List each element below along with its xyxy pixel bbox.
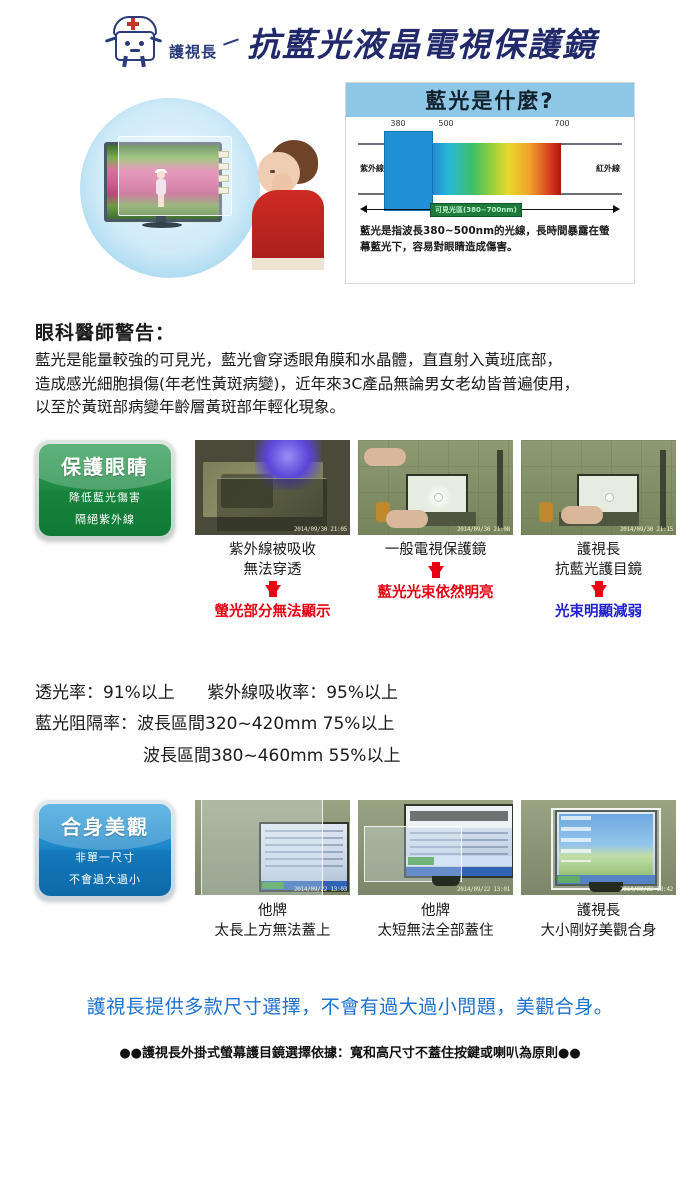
screen-protector-overlay <box>118 136 232 216</box>
caption-line-1: 護視長 <box>521 901 676 921</box>
result-text: 螢光部分無法顯示 <box>195 600 350 621</box>
caption-line-2: 無法穿透 <box>195 561 350 581</box>
wavelength-axis: 380 500 700 <box>346 119 634 131</box>
brand-name: 護視長 <box>169 41 217 68</box>
warning-line-1: 藍光是能量較強的可見光，藍光會穿透眼角膜和水晶體，直直射入黃班底部， <box>35 349 675 373</box>
photo-timestamp: 2014/09/30 21:08 <box>457 526 510 533</box>
warning-line-2: 造成感光細胞損傷(年老性黃斑病變)，近年來3C產品無論男女老幼皆普遍使用， <box>35 373 675 397</box>
footer-note: ●●護視長外掛式螢幕護目鏡選擇依據：寬和高尺寸不蓋住按鍵或喇叭為原則●● <box>0 1042 700 1061</box>
demo-item: 2014/09/30 21:05 紫外線被吸收 無法穿透 螢光部分無法顯示 <box>195 440 350 621</box>
badge-sub-1: 非單一尺寸 <box>75 849 135 865</box>
huseeking-perfect-fit-photo: 2014/09/22 13:42 <box>521 800 676 895</box>
down-arrow-icon <box>428 566 444 578</box>
demo-item: 2014/09/30 21:15 護視長 抗藍光護目鏡 光束明顯減弱 <box>521 440 676 621</box>
result-text: 藍光光束依然明亮 <box>358 581 513 602</box>
photo-timestamp: 2014/09/30 21:05 <box>294 526 347 533</box>
warning-line-3: 以至於黃斑部病變年齡層黃斑部年輕化現象。 <box>35 396 675 420</box>
eye-protection-badge: 保護眼睛 降低藍光傷害 隔絕紫外線 <box>35 440 175 540</box>
caption-line-1: 紫外線被吸收 <box>195 541 350 561</box>
caption-line-1: 一般電視保護鏡 <box>358 541 513 561</box>
child-watching-tv-photo <box>62 90 332 285</box>
caption-line-1: 護視長 <box>521 541 676 561</box>
chart-caption: 藍光是指波長380~500nm的光線，長時間暴露在螢幕藍光下，容易對眼睛造成傷害… <box>346 217 634 256</box>
badge-title: 保護眼睛 <box>61 451 149 480</box>
chart-title: 藍光是什麼? <box>346 83 634 117</box>
photo-timestamp: 2014/09/22 13:42 <box>620 886 673 893</box>
caption-line-2: 太長上方無法蓋上 <box>195 921 350 941</box>
ir-region-label: 紅外線 <box>596 163 620 174</box>
spectrum-plot: 380 500 700 紫外線 紅外線 可見光區(380~700nm) <box>346 117 634 217</box>
uv-region-label: 紫外線 <box>360 163 384 174</box>
hero-row: 藍光是什麼? 380 500 700 紫外線 紅外線 可見光區(380~700n… <box>0 82 700 297</box>
protector-overlay <box>364 826 462 882</box>
spec-blue-block-1: 藍光阻隔率：波長區間320~420mm 75%以上 <box>35 709 675 740</box>
child-figure <box>252 140 324 270</box>
fit-demo-photos: 2014/09/22 13:03 他牌 太長上方無法蓋上 <box>195 800 675 942</box>
generic-protector-beam-photo: 2014/09/30 21:08 <box>358 440 513 535</box>
specifications-block: 透光率：91%以上 紫外線吸收率：95%以上 藍光阻隔率：波長區間320~420… <box>35 678 675 772</box>
down-arrow-icon <box>591 585 607 597</box>
down-arrow-icon <box>265 585 281 597</box>
demo-item: 2014/09/22 13:01 他牌 太短無法全部蓋住 <box>358 800 513 942</box>
caption-line-2: 抗藍光護目鏡 <box>521 561 676 581</box>
result-text: 光束明顯減弱 <box>521 600 676 621</box>
photo-timestamp: 2014/09/22 13:01 <box>457 886 510 893</box>
spec-transmittance: 透光率：91%以上 <box>35 683 175 703</box>
page-header: 護視長 抗藍光液晶電視保護鏡 <box>0 16 700 68</box>
doctor-warning-block: 眼科醫師警告： 藍光是能量較強的可見光，藍光會穿透眼角膜和水晶體，直直射入黃班底… <box>35 318 675 420</box>
badge-sub-2: 不會過大過小 <box>69 871 141 887</box>
badge-title: 合身美觀 <box>61 811 149 840</box>
arrow-right-icon <box>613 205 620 213</box>
footer-tagline: 護視長提供多款尺寸選擇，不會有過大過小問題，美觀合身。 <box>0 992 700 1019</box>
caption-line-2: 大小剛好美觀合身 <box>521 921 676 941</box>
caption-line-1: 他牌 <box>195 901 350 921</box>
spec-blue-block-2: 波長區間380~460mm 55%以上 <box>35 741 675 772</box>
spec-uv-absorption: 紫外線吸收率：95%以上 <box>207 683 398 703</box>
demo-item: 2014/09/22 13:42 護視長 大小剛好美觀合身 <box>521 800 676 942</box>
blue-light-spectrum-chart: 藍光是什麼? 380 500 700 紫外線 紅外線 可見光區(380~700n… <box>345 82 635 284</box>
blue-light-band <box>384 131 433 211</box>
badge-sub-1: 降低藍光傷害 <box>69 489 141 505</box>
tick-380: 380 <box>390 119 405 128</box>
demo-item: 2014/09/22 13:03 他牌 太長上方無法蓋上 <box>195 800 350 942</box>
warning-title: 眼科醫師警告： <box>35 318 675 345</box>
nurse-mascot-icon <box>103 16 167 68</box>
demo-item: 2014/09/30 21:08 一般電視保護鏡 藍光光束依然明亮 <box>358 440 513 621</box>
eye-demo-photos: 2014/09/30 21:05 紫外線被吸收 無法穿透 螢光部分無法顯示 <box>195 440 675 621</box>
arrow-left-icon <box>360 205 367 213</box>
caption-line-2: 太短無法全部蓋住 <box>358 921 513 941</box>
huseeking-protector-beam-photo: 2014/09/30 21:15 <box>521 440 676 535</box>
other-brand-too-short-photo: 2014/09/22 13:01 <box>358 800 513 895</box>
visible-range-label: 可見光區(380~700nm) <box>430 203 522 217</box>
protector-overlay <box>551 808 661 890</box>
visible-range-indicator: 可見光區(380~700nm) <box>358 203 622 217</box>
tv-illustration <box>104 142 226 226</box>
product-page: 護視長 抗藍光液晶電視保護鏡 <box>0 0 700 1200</box>
badge-sub-2: 隔絕紫外線 <box>75 511 135 527</box>
tick-700: 700 <box>554 119 569 128</box>
photo-timestamp: 2014/09/22 13:03 <box>294 886 347 893</box>
caption-line-1: 他牌 <box>358 901 513 921</box>
protector-overlay <box>201 800 323 895</box>
photo-timestamp: 2014/09/30 21:15 <box>620 526 673 533</box>
fit-badge: 合身美觀 非單一尺寸 不會過大過小 <box>35 800 175 900</box>
tick-500: 500 <box>438 119 453 128</box>
other-brand-too-long-photo: 2014/09/22 13:03 <box>195 800 350 895</box>
uv-banknote-test-photo: 2014/09/30 21:05 <box>195 440 350 535</box>
brand-swoosh-icon <box>223 38 239 45</box>
page-title: 抗藍光液晶電視保護鏡 <box>247 18 597 66</box>
